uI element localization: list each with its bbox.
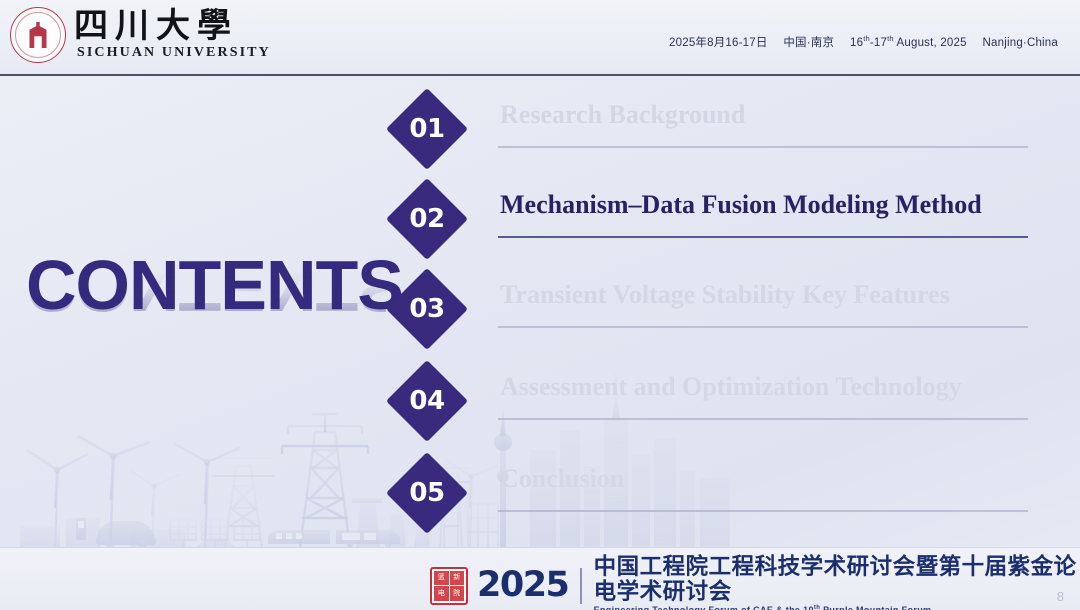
agenda-label-03: Transient Voltage Stability Key Features [500, 280, 1030, 310]
solar-panel-icon [170, 520, 260, 548]
seal-char-4: 院 [450, 586, 465, 601]
agenda-number-03: 03 [398, 280, 456, 338]
agenda-label-01: Research Background [500, 100, 1030, 130]
agenda-item-05[interactable]: 05 Conclusion [398, 460, 1038, 542]
conference-date-location: 2025年8月16-17日 中国·南京 16th-17th August, 20… [669, 34, 1058, 50]
agenda-item-01[interactable]: 01 Research Background [398, 96, 1038, 178]
presentation-slide: 四川大學 SICHUAN UNIVERSITY 2025年8月16-17日 中国… [0, 0, 1080, 610]
sichuan-university-seal-icon [10, 7, 66, 63]
agenda-underline-01 [498, 146, 1028, 148]
university-name-cn: 四川大學 [74, 10, 271, 44]
wind-turbine-icon [175, 444, 240, 548]
agenda-number-04: 04 [398, 372, 456, 430]
agenda-item-03[interactable]: 03 Transient Voltage Stability Key Featu… [398, 276, 1038, 358]
agenda-underline-03 [498, 326, 1028, 328]
agenda-number-01: 01 [398, 100, 456, 158]
transmission-tower-icon [282, 414, 368, 548]
wind-turbine-icon [130, 470, 180, 548]
footer-divider [580, 568, 581, 604]
low-rise-buildings-icon [20, 518, 236, 548]
bus-icon [336, 530, 400, 548]
university-logo: 四川大學 SICHUAN UNIVERSITY [10, 7, 271, 63]
transmission-tower-icon [212, 458, 275, 548]
conference-location-cn: 中国·南京 [783, 37, 834, 49]
header-divider [0, 74, 1080, 76]
agenda-underline-02 [498, 236, 1028, 238]
forum-name-cn: 中国工程院工程科技学术研讨会暨第十届紫金论电学术研讨会 [594, 554, 1080, 604]
wind-turbine-icon [27, 450, 88, 548]
electric-vehicle-icon [76, 518, 156, 548]
agenda-item-04[interactable]: 04 Assessment and Optimization Technolog… [398, 368, 1038, 450]
forum-name-block: 中国工程院工程科技学术研讨会暨第十届紫金论电学术研讨会 Engineering … [594, 554, 1080, 610]
contents-title-reflection: CONTENTS [26, 253, 386, 320]
slide-header: 四川大學 SICHUAN UNIVERSITY 2025年8月16-17日 中国… [0, 0, 1080, 76]
agenda-label-04: Assessment and Optimization Technology [500, 372, 1030, 402]
agenda-label-02: Mechanism–Data Fusion Modeling Method [500, 190, 1030, 220]
train-icon [268, 530, 330, 544]
agenda-number-05: 05 [398, 464, 456, 522]
university-name-en: SICHUAN UNIVERSITY [74, 46, 271, 60]
seal-char-2: 新 [450, 571, 465, 586]
agenda-label-05: Conclusion [500, 464, 1030, 494]
wind-turbine-icon [78, 436, 150, 548]
slide-footer: 篮 新 电 院 2025 中国工程院工程科技学术研讨会暨第十届紫金论电学术研讨会… [0, 547, 1080, 610]
conference-date-cn: 2025年8月16-17日 [669, 37, 768, 49]
seal-char-1: 篮 [434, 571, 449, 586]
conference-year: 2025 [477, 568, 568, 603]
contents-heading-block: CONTENTS CONTENTS [26, 252, 386, 392]
agenda-underline-05 [498, 510, 1028, 512]
agenda-number-02: 02 [398, 190, 456, 248]
page-number: 8 [1057, 589, 1064, 604]
seal-char-3: 电 [434, 586, 449, 601]
conference-seal-icon: 篮 新 电 院 [430, 567, 468, 605]
agenda-item-02[interactable]: 02 Mechanism–Data Fusion Modeling Method [398, 186, 1038, 268]
conference-branding: 篮 新 电 院 2025 中国工程院工程科技学术研讨会暨第十届紫金论电学术研讨会… [430, 554, 1080, 610]
forum-name-en: Engineering Technology Forum of CAE & th… [594, 605, 1080, 610]
conference-location-en: Nanjing·China [983, 37, 1058, 49]
conference-date-en: 16th-17th August, 2025 [850, 37, 967, 49]
university-name-block: 四川大學 SICHUAN UNIVERSITY [74, 10, 271, 60]
agenda-underline-04 [498, 418, 1028, 420]
